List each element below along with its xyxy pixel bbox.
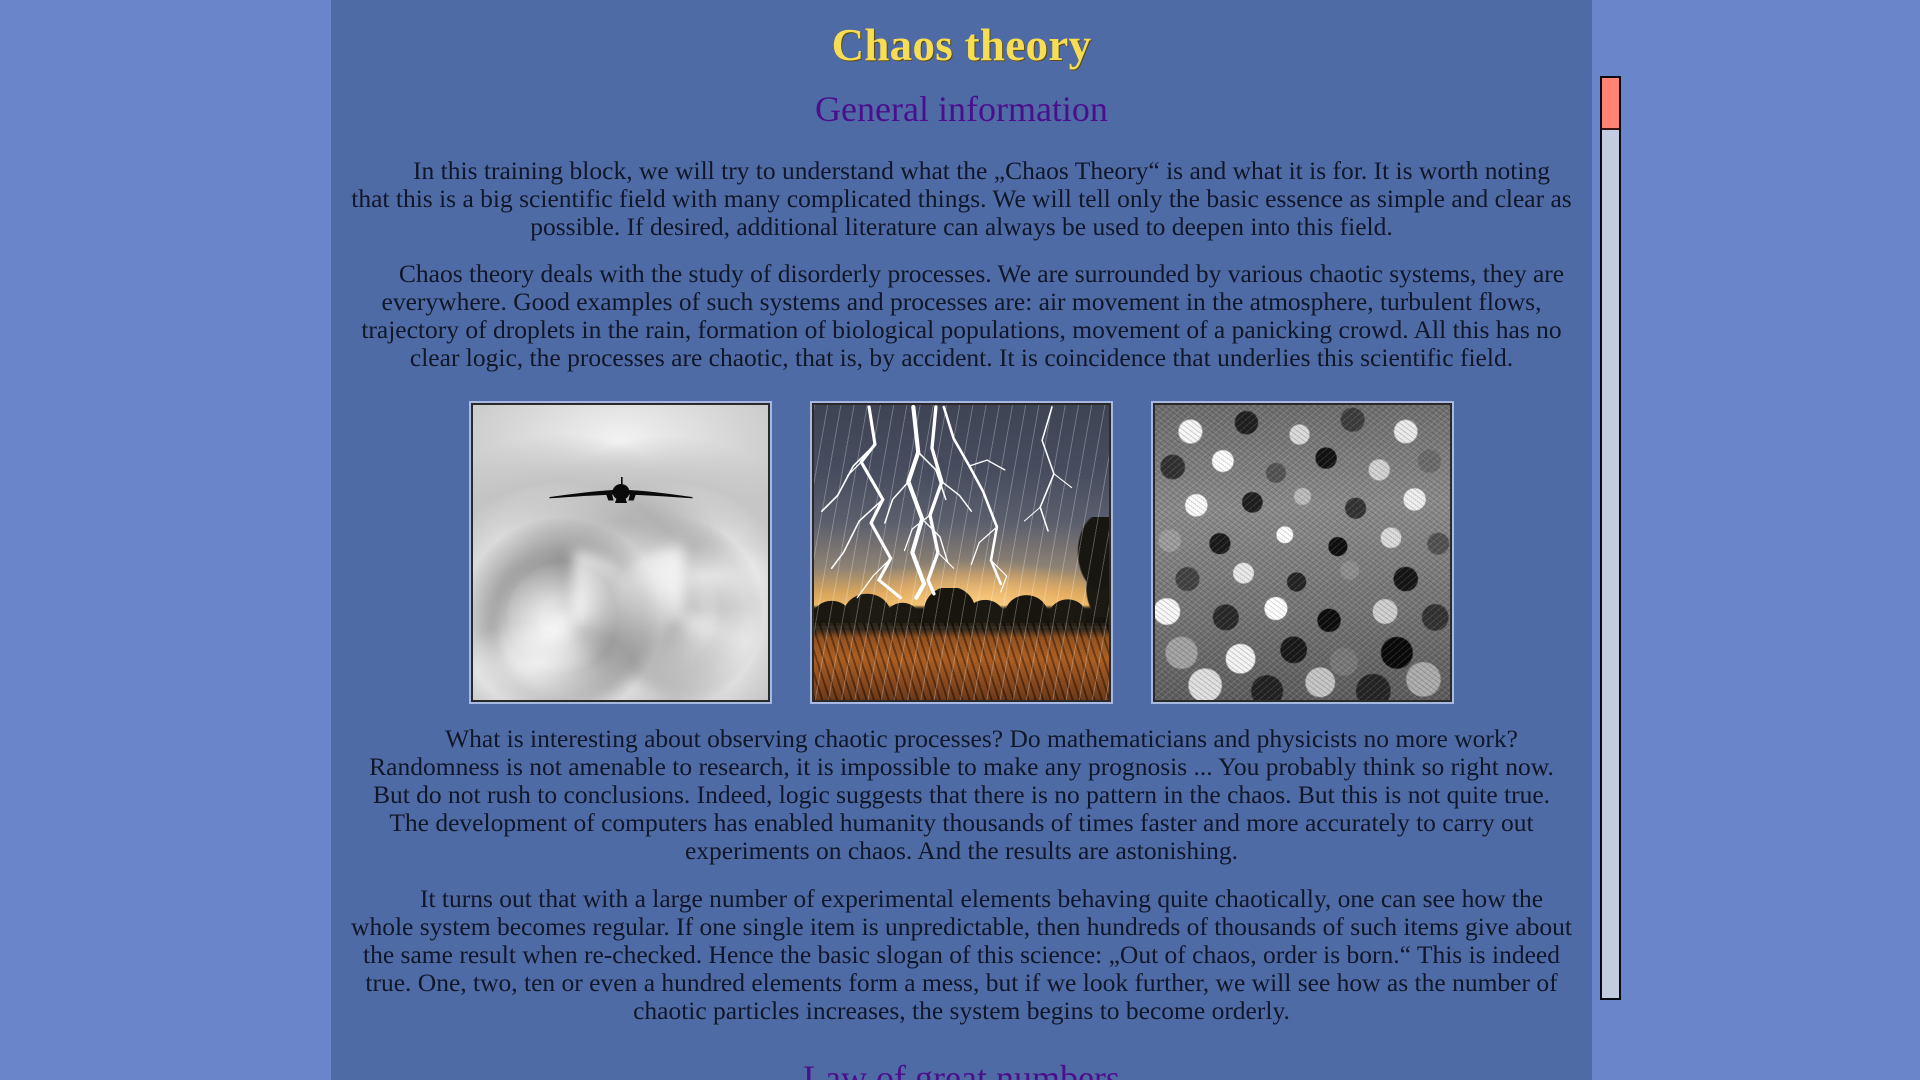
paragraph-intro: In this training block, we will try to u… [331,130,1592,241]
crowd-canvas [1155,405,1450,700]
section-subtitle-general-information: General information [331,69,1592,130]
rain-streaks [814,405,1109,700]
lightning-storm-canvas [814,405,1109,700]
browser-viewport: Chaos theory General information In this… [0,0,1920,1080]
airplane-wake-vortex-image [469,401,772,704]
crowd-image [1151,401,1454,704]
cloud-mist-overlay [473,405,768,700]
crowd-texture-overlay [1155,405,1450,700]
section-heading-law-of-great-numbers: Law of great numbers [331,1025,1592,1080]
lightning-storm-image [810,401,1113,704]
vertical-scrollbar[interactable] [1600,76,1621,1000]
page-title: Chaos theory [331,0,1592,69]
scrollbar-thumb[interactable] [1602,78,1619,130]
paragraph-order-from-chaos: It turns out that with a large number of… [331,865,1592,1025]
paragraph-observing-chaos: What is interesting about observing chao… [331,704,1592,865]
document-content: Chaos theory General information In this… [331,0,1592,1080]
airplane-silhouette-icon [546,475,696,509]
paragraph-disorderly-processes: Chaos theory deals with the study of dis… [331,241,1592,372]
airplane-wake-vortex-canvas [473,405,768,700]
figure-row [331,372,1592,704]
